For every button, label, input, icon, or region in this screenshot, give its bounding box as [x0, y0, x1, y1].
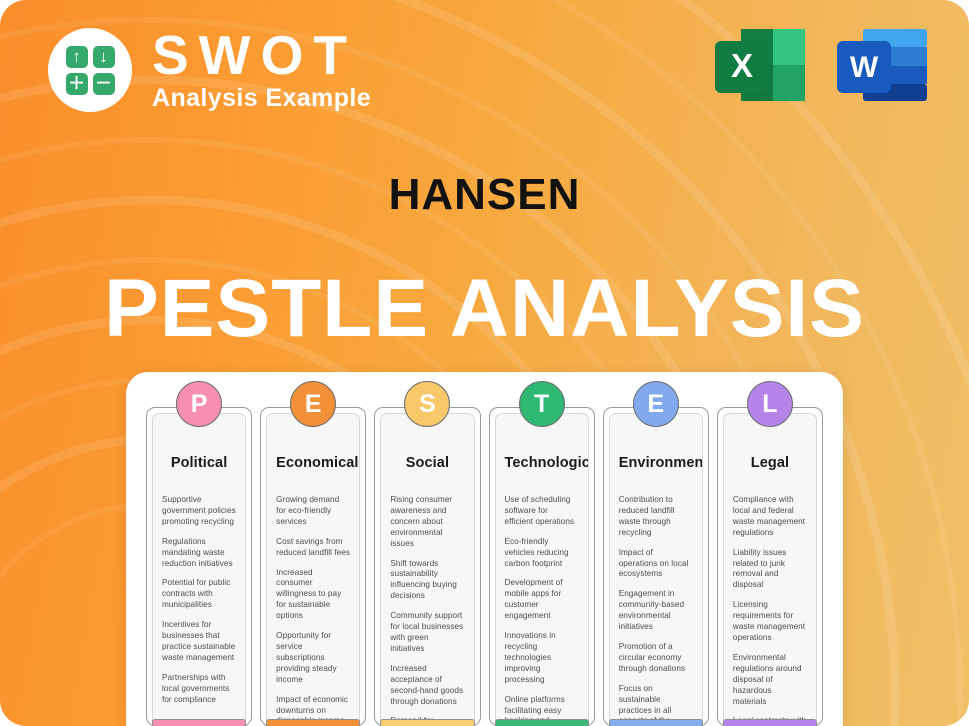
swot-logo: ↑ ↓ ＋ － SWOT Analysis Example: [48, 28, 371, 113]
svg-text:X: X: [731, 47, 753, 84]
minus-icon: －: [93, 73, 115, 95]
color-bar-environment: [609, 719, 703, 726]
badge-l: L: [747, 381, 793, 427]
logo-subtitle: Analysis Example: [152, 85, 371, 113]
bullet-list-legal: Compliance with local and federal waste …: [733, 495, 807, 725]
list-item: Incentives for businesses that practice …: [162, 620, 236, 664]
column-inner-legal: Legal Compliance with local and federal …: [723, 413, 817, 725]
list-item: Potential for public contracts with muni…: [162, 578, 236, 611]
column-title-political: Political: [162, 455, 236, 471]
list-item: Use of scheduling software for efficient…: [505, 495, 579, 528]
badge-e2: E: [633, 381, 679, 427]
color-bar-social: [380, 719, 474, 726]
pestle-column-economical[interactable]: E Economical Growing demand for eco-frie…: [260, 407, 366, 726]
logo-icon-grid: ↑ ↓ ＋ －: [66, 46, 115, 95]
pestle-column-technological[interactable]: T Technological Use of scheduling softwa…: [489, 407, 595, 726]
pestle-columns: P Political Supportive government polici…: [146, 407, 823, 726]
list-item: Community support for local businesses w…: [390, 611, 464, 655]
company-name: HANSEN: [0, 170, 969, 220]
page-title: PESTLE ANALYSIS: [0, 268, 969, 350]
list-item: Opportunity for service subscriptions pr…: [276, 631, 350, 686]
logo-circle: ↑ ↓ ＋ －: [48, 28, 132, 112]
pestle-column-social[interactable]: S Social Rising consumer awareness and c…: [374, 407, 480, 726]
list-item: Supportive government policies promoting…: [162, 495, 236, 528]
list-item: Contribution to reduced landfill waste t…: [619, 495, 693, 539]
list-item: Promotion of a circular economy through …: [619, 642, 693, 675]
column-title-environment: Environment: [619, 455, 693, 471]
slide-root: ↑ ↓ ＋ － SWOT Analysis Example X: [0, 0, 969, 726]
office-icon-group: X W: [713, 27, 929, 105]
bullet-list-technological: Use of scheduling software for efficient…: [505, 495, 579, 725]
pestle-card: P Political Supportive government polici…: [126, 372, 843, 726]
list-item: Regulations mandating waste reduction in…: [162, 537, 236, 570]
column-inner-environment: Environment Contribution to reduced land…: [609, 413, 703, 725]
list-item: Licensing requirements for waste managem…: [733, 600, 807, 644]
logo-title: SWOT: [152, 28, 371, 83]
badge-s: S: [404, 381, 450, 427]
pestle-column-legal[interactable]: L Legal Compliance with local and federa…: [717, 407, 823, 726]
list-item: Partnerships with local governments for …: [162, 673, 236, 706]
plus-icon: ＋: [66, 73, 88, 95]
list-item: Growing demand for eco-friendly services: [276, 495, 350, 528]
logo-text: SWOT Analysis Example: [152, 28, 371, 113]
excel-icon[interactable]: X: [713, 27, 807, 105]
column-inner-social: Social Rising consumer awareness and con…: [380, 413, 474, 725]
color-bar-technological: [495, 719, 589, 726]
list-item: Increased acceptance of second-hand good…: [390, 664, 464, 708]
list-item: Engagement in community-based environmen…: [619, 589, 693, 633]
column-title-legal: Legal: [733, 455, 807, 471]
arrow-down-icon: ↓: [93, 46, 115, 68]
list-item: Cost savings from reduced landfill fees: [276, 537, 350, 559]
bullet-list-political: Supportive government policies promoting…: [162, 495, 236, 706]
color-bar-legal: [723, 719, 817, 726]
list-item: Development of mobile apps for customer …: [505, 578, 579, 622]
bullet-list-social: Rising consumer awareness and concern ab…: [390, 495, 464, 725]
arrow-up-icon: ↑: [66, 46, 88, 68]
pestle-column-environment[interactable]: E Environment Contribution to reduced la…: [603, 407, 709, 726]
column-title-economical: Economical: [276, 455, 350, 471]
badge-t: T: [519, 381, 565, 427]
list-item: Impact of operations on local ecosystems: [619, 548, 693, 581]
column-title-technological: Technological: [505, 455, 579, 471]
word-icon[interactable]: W: [835, 27, 929, 105]
bullet-list-economical: Growing demand for eco-friendly services…: [276, 495, 350, 725]
color-bar-political: [152, 719, 246, 726]
column-inner-political: Political Supportive government policies…: [152, 413, 246, 725]
list-item: Innovations in recycling technologies im…: [505, 631, 579, 686]
bullet-list-environment: Contribution to reduced landfill waste t…: [619, 495, 693, 725]
badge-p: P: [176, 381, 222, 427]
list-item: Shift towards sustainability influencing…: [390, 559, 464, 603]
list-item: Liability issues related to junk removal…: [733, 548, 807, 592]
color-bar-economical: [266, 719, 360, 726]
list-item: Compliance with local and federal waste …: [733, 495, 807, 539]
column-inner-technological: Technological Use of scheduling software…: [495, 413, 589, 725]
list-item: Increased consumer willingness to pay fo…: [276, 568, 350, 623]
column-title-social: Social: [390, 455, 464, 471]
list-item: Eco-friendly vehicles reducing carbon fo…: [505, 537, 579, 570]
badge-e1: E: [290, 381, 336, 427]
pestle-column-political[interactable]: P Political Supportive government polici…: [146, 407, 252, 726]
column-inner-economical: Economical Growing demand for eco-friend…: [266, 413, 360, 725]
list-item: Environmental regulations around disposa…: [733, 653, 807, 708]
list-item: Rising consumer awareness and concern ab…: [390, 495, 464, 550]
svg-text:W: W: [850, 51, 879, 84]
